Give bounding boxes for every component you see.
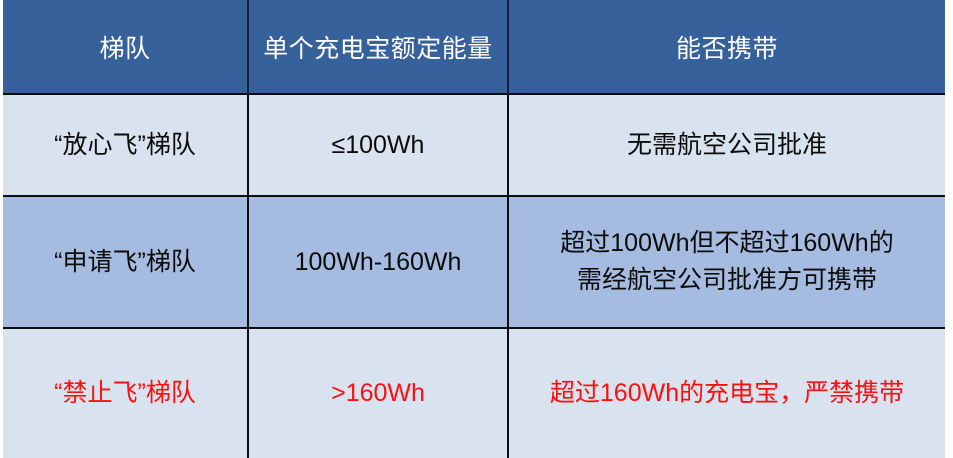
table-row: “禁止飞”梯队 >160Wh 超过160Wh的充电宝，严禁携带 (3, 328, 945, 458)
cell-carry: 无需航空公司批准 (508, 94, 945, 196)
power-bank-rules-table: 梯队 单个充电宝额定能量 能否携带 “放心飞”梯队 ≤100Wh 无需航空公司批… (3, 0, 945, 458)
column-header-carry: 能否携带 (508, 0, 945, 94)
cell-tier: “禁止飞”梯队 (3, 328, 248, 458)
table-row: “申请飞”梯队 100Wh-160Wh 超过100Wh但不超过160Wh的 需经… (3, 196, 945, 328)
cell-tier: “放心飞”梯队 (3, 94, 248, 196)
cell-energy: >160Wh (248, 328, 508, 458)
cell-energy: ≤100Wh (248, 94, 508, 196)
column-header-tier: 梯队 (3, 0, 248, 94)
cell-carry-line: 超过100Wh但不超过160Wh的 (515, 227, 939, 260)
table-header-row: 梯队 单个充电宝额定能量 能否携带 (3, 0, 945, 94)
cell-carry-line: 无需航空公司批准 (515, 129, 939, 162)
cell-carry-line: 需经航空公司批准方可携带 (515, 264, 939, 297)
column-header-energy: 单个充电宝额定能量 (248, 0, 508, 94)
cell-tier: “申请飞”梯队 (3, 196, 248, 328)
table-row: “放心飞”梯队 ≤100Wh 无需航空公司批准 (3, 94, 945, 196)
cell-carry-line: 超过160Wh的充电宝，严禁携带 (515, 377, 939, 410)
cell-energy: 100Wh-160Wh (248, 196, 508, 328)
table-container: 梯队 单个充电宝额定能量 能否携带 “放心飞”梯队 ≤100Wh 无需航空公司批… (0, 0, 953, 458)
cell-carry: 超过160Wh的充电宝，严禁携带 (508, 328, 945, 458)
table-body: “放心飞”梯队 ≤100Wh 无需航空公司批准 “申请飞”梯队 100Wh-16… (3, 94, 945, 458)
cell-carry: 超过100Wh但不超过160Wh的 需经航空公司批准方可携带 (508, 196, 945, 328)
